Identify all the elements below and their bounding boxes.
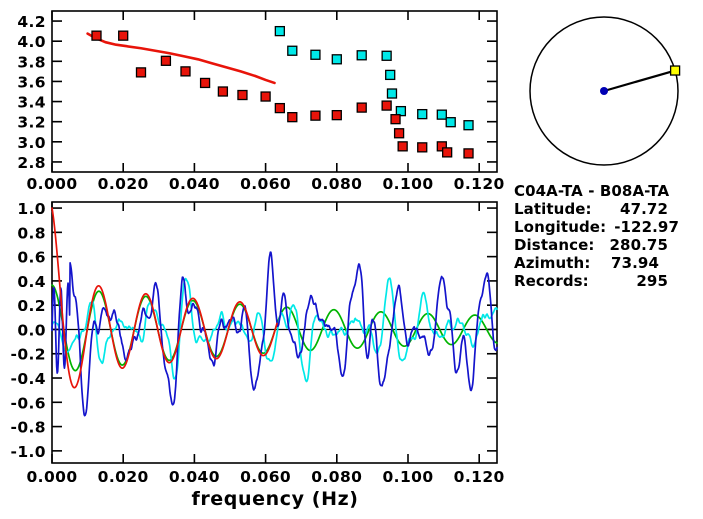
- data-point-marker: [443, 148, 452, 157]
- tick-label: 3.6: [17, 73, 46, 91]
- data-point-marker: [201, 78, 210, 87]
- tick-label: 0.120: [454, 468, 505, 486]
- dispersion-x-tick-labels: 0.0000.0200.0400.0600.0800.1000.120: [26, 175, 504, 193]
- tick-label: 3.0: [17, 134, 46, 152]
- tick-label: 0.040: [169, 175, 220, 193]
- station-pair-title: C04A-TA - B08A-TA: [514, 182, 669, 200]
- tick-label: 0.120: [454, 175, 505, 193]
- tick-label: 0.060: [240, 175, 291, 193]
- data-point-marker: [288, 113, 297, 122]
- tick-label: 0.000: [26, 175, 77, 193]
- azimuth-value: 73.94: [611, 254, 659, 272]
- tick-label: -0.8: [11, 419, 47, 437]
- azimuth-label: Azimuth:: [514, 254, 590, 272]
- data-point-marker: [332, 111, 341, 120]
- longitude-label: Longitude:: [514, 218, 606, 236]
- tick-label: 0.100: [382, 175, 433, 193]
- data-point-marker: [437, 110, 446, 119]
- data-point-marker: [418, 110, 427, 119]
- data-point-marker: [288, 46, 297, 55]
- data-point-marker: [261, 92, 270, 101]
- distance-value: 280.75: [610, 236, 668, 254]
- phase-velocity-markers: [275, 27, 473, 130]
- data-point-marker: [311, 50, 320, 59]
- data-point-marker: [382, 101, 391, 110]
- tick-label: 4.0: [17, 33, 46, 51]
- info-panel: C04A-TA - B08A-TA Latitude: 47.72 Longit…: [514, 182, 679, 290]
- tick-label: 0.0: [17, 321, 46, 339]
- data-point-marker: [446, 118, 455, 127]
- tick-label: 0.000: [26, 468, 77, 486]
- data-point-marker: [119, 31, 128, 40]
- latitude-label: Latitude:: [514, 200, 592, 218]
- waveform-y-tick-labels: -1.0-0.8-0.6-0.4-0.20.00.20.40.60.81.0: [11, 200, 47, 461]
- azimuth-compass: [530, 17, 680, 165]
- tick-label: 3.4: [17, 94, 46, 112]
- station-dot: [600, 87, 608, 95]
- records-label: Records:: [514, 272, 589, 290]
- records-value: 295: [636, 272, 668, 290]
- data-point-marker: [137, 68, 146, 77]
- data-point-marker: [357, 103, 366, 112]
- data-point-marker: [387, 89, 396, 98]
- data-point-marker: [238, 91, 247, 100]
- tick-label: 0.040: [169, 468, 220, 486]
- tick-label: 0.100: [382, 468, 433, 486]
- tick-label: 2.8: [17, 154, 46, 172]
- tick-label: 0.4: [17, 273, 46, 291]
- event-square: [671, 66, 680, 75]
- tick-label: 0.8: [17, 224, 46, 242]
- data-point-marker: [275, 27, 284, 36]
- waveform-plot: -1.0-0.8-0.6-0.4-0.20.00.20.40.60.81.0 0…: [11, 200, 505, 510]
- data-point-marker: [391, 115, 400, 124]
- tick-label: 3.8: [17, 53, 46, 71]
- data-point-marker: [395, 129, 404, 138]
- x-axis-label: frequency (Hz): [191, 488, 358, 510]
- tick-label: 0.6: [17, 249, 46, 267]
- tick-label: -0.6: [11, 394, 47, 412]
- tick-label: -1.0: [11, 443, 47, 461]
- data-point-marker: [357, 51, 366, 60]
- seismic-figure: 2.83.03.23.43.63.84.04.2 0.0000.0200.040…: [0, 0, 703, 519]
- tick-label: 1.0: [17, 200, 46, 218]
- longitude-value: -122.97: [614, 218, 679, 236]
- tick-label: 3.2: [17, 114, 46, 132]
- data-point-marker: [161, 56, 170, 65]
- latitude-value: 47.72: [620, 200, 668, 218]
- dispersion-y-tick-labels: 2.83.03.23.43.63.84.04.2: [17, 13, 46, 172]
- data-point-marker: [386, 70, 395, 79]
- tick-label: 0.2: [17, 297, 46, 315]
- data-point-marker: [92, 31, 101, 40]
- data-point-marker: [218, 87, 227, 96]
- azimuth-line: [604, 71, 675, 91]
- tick-label: 0.080: [311, 175, 362, 193]
- tick-label: 0.020: [98, 468, 149, 486]
- figure-root: 2.83.03.23.43.63.84.04.2 0.0000.0200.040…: [0, 0, 703, 519]
- tick-label: 4.2: [17, 13, 46, 31]
- data-point-marker: [464, 149, 473, 158]
- data-point-marker: [181, 67, 190, 76]
- tick-label: -0.2: [11, 346, 47, 364]
- data-point-marker: [464, 121, 473, 130]
- distance-label: Distance:: [514, 236, 594, 254]
- dispersion-plot: 2.83.03.23.43.63.84.04.2 0.0000.0200.040…: [17, 11, 504, 193]
- tick-label: 0.080: [311, 468, 362, 486]
- tick-label: -0.4: [11, 370, 47, 388]
- tick-label: 0.060: [240, 468, 291, 486]
- waveform-x-tick-labels: 0.0000.0200.0400.0600.0800.1000.120: [26, 468, 504, 486]
- data-point-marker: [398, 142, 407, 151]
- dispersion-y-ticks: [52, 21, 497, 162]
- data-point-marker: [311, 111, 320, 120]
- data-point-marker: [332, 55, 341, 64]
- tick-label: 0.020: [98, 175, 149, 193]
- data-point-marker: [418, 143, 427, 152]
- data-point-marker: [275, 104, 284, 113]
- data-point-marker: [382, 51, 391, 60]
